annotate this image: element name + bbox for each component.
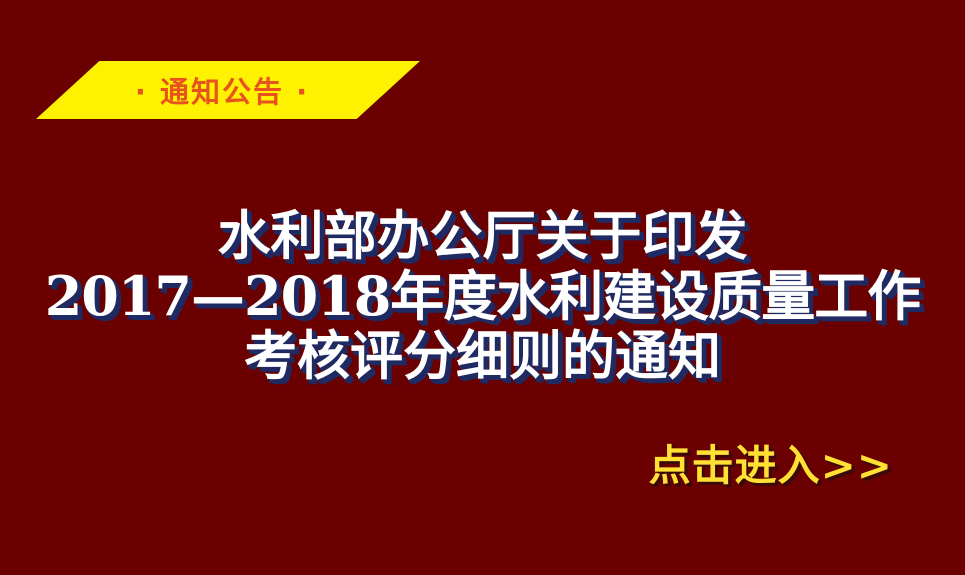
page-title: 水利部办公厅关于印发 2017—2018年度水利建设质量工作 考核评分细则的通知: [0, 207, 965, 386]
title-line-3: 考核评分细则的通知: [0, 327, 965, 386]
announcement-poster: · 通知公告 · 水利部办公厅关于印发 2017—2018年度水利建设质量工作 …: [0, 0, 965, 575]
banner-label: · 通知公告 ·: [36, 61, 420, 119]
title-line-1: 水利部办公厅关于印发: [0, 207, 965, 266]
notice-banner: · 通知公告 ·: [36, 61, 420, 119]
title-line-2: 2017—2018年度水利建设质量工作: [0, 266, 965, 326]
enter-link[interactable]: 点击进入>>: [649, 432, 893, 493]
